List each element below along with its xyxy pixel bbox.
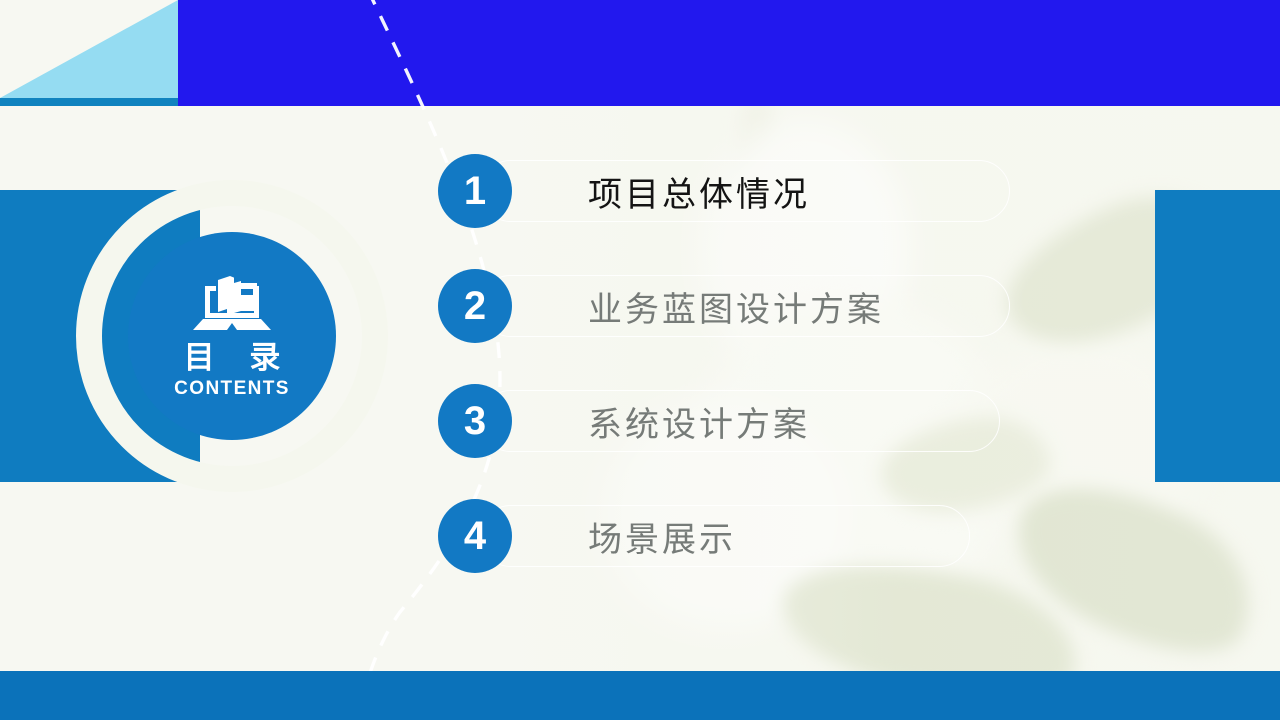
menu-label-2: 业务蓝图设计方案 [588, 275, 884, 337]
top-banner [178, 0, 1280, 106]
menu-number-2: 2 [438, 269, 512, 343]
menu-item-2[interactable]: 2 业务蓝图设计方案 [432, 265, 1052, 347]
menu-number-3: 3 [438, 384, 512, 458]
menu-item-3[interactable]: 3 系统设计方案 [432, 380, 1052, 462]
laptop-books-icon [191, 272, 273, 334]
bottom-blue-bar [0, 671, 1280, 720]
contents-logo: 目 录 CONTENTS [128, 232, 336, 440]
menu-item-4[interactable]: 4 场景展示 [432, 495, 1052, 577]
menu-item-1[interactable]: 1 项目总体情况 [432, 150, 1052, 232]
menu-label-4: 场景展示 [588, 505, 736, 567]
top-left-triangle-group [0, 0, 178, 98]
contents-menu: 1 项目总体情况 2 业务蓝图设计方案 3 系统设计方案 4 场景展示 [432, 150, 1052, 610]
logo-title-cn: 目 录 [172, 342, 293, 375]
menu-label-1: 项目总体情况 [588, 160, 810, 222]
menu-number-4: 4 [438, 499, 512, 573]
top-left-underline [0, 98, 178, 106]
slide-table-of-contents: 目 录 CONTENTS 1 项目总体情况 2 业务蓝图设计方案 3 系统设计方… [0, 0, 1280, 720]
light-blue-triangle [0, 0, 178, 98]
right-blue-rectangle [1155, 190, 1280, 482]
logo-title-en: CONTENTS [174, 378, 290, 400]
menu-label-3: 系统设计方案 [588, 390, 810, 452]
menu-number-1: 1 [438, 154, 512, 228]
